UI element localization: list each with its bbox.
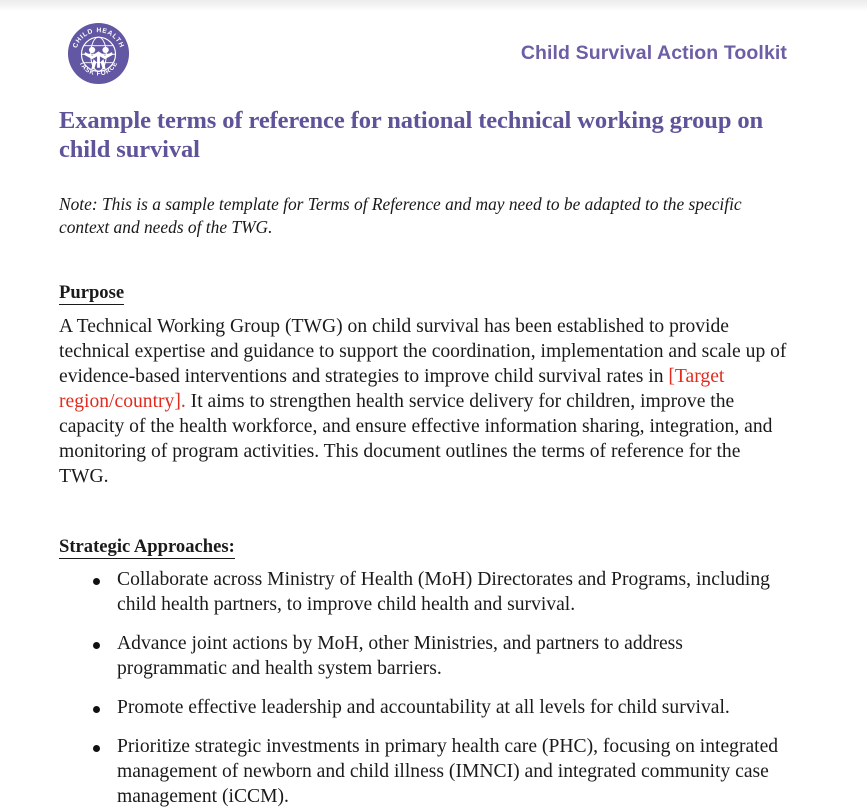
purpose-paragraph: A Technical Working Group (TWG) on child…	[59, 315, 787, 490]
section-heading-strategic-approaches: Strategic Approaches:	[59, 536, 235, 559]
document-page: CHILD HEALTH TASK FORCE Child Survival A…	[0, 0, 867, 699]
list-item: Promote effective leadership and account…	[59, 696, 795, 721]
template-note: Note: This is a sample template for Term…	[59, 193, 789, 238]
document-header: CHILD HEALTH TASK FORCE Child Survival A…	[59, 0, 795, 92]
child-health-task-force-logo-icon: CHILD HEALTH TASK FORCE	[63, 18, 134, 89]
purpose-heading-wrap: Purpose	[59, 256, 795, 305]
list-item: Prioritize strategic investments in prim…	[59, 735, 795, 810]
list-item: Advance joint actions by MoH, other Mini…	[59, 632, 795, 682]
page-title: Example terms of reference for national …	[59, 106, 794, 164]
section-heading-purpose: Purpose	[59, 282, 124, 305]
strategic-approaches-list: Collaborate across Ministry of Health (M…	[59, 568, 795, 810]
toolkit-brand-title: Child Survival Action Toolkit	[521, 42, 787, 65]
list-item: Collaborate across Ministry of Health (M…	[59, 568, 795, 618]
strategic-approaches-heading-wrap: Strategic Approaches:	[59, 510, 795, 559]
